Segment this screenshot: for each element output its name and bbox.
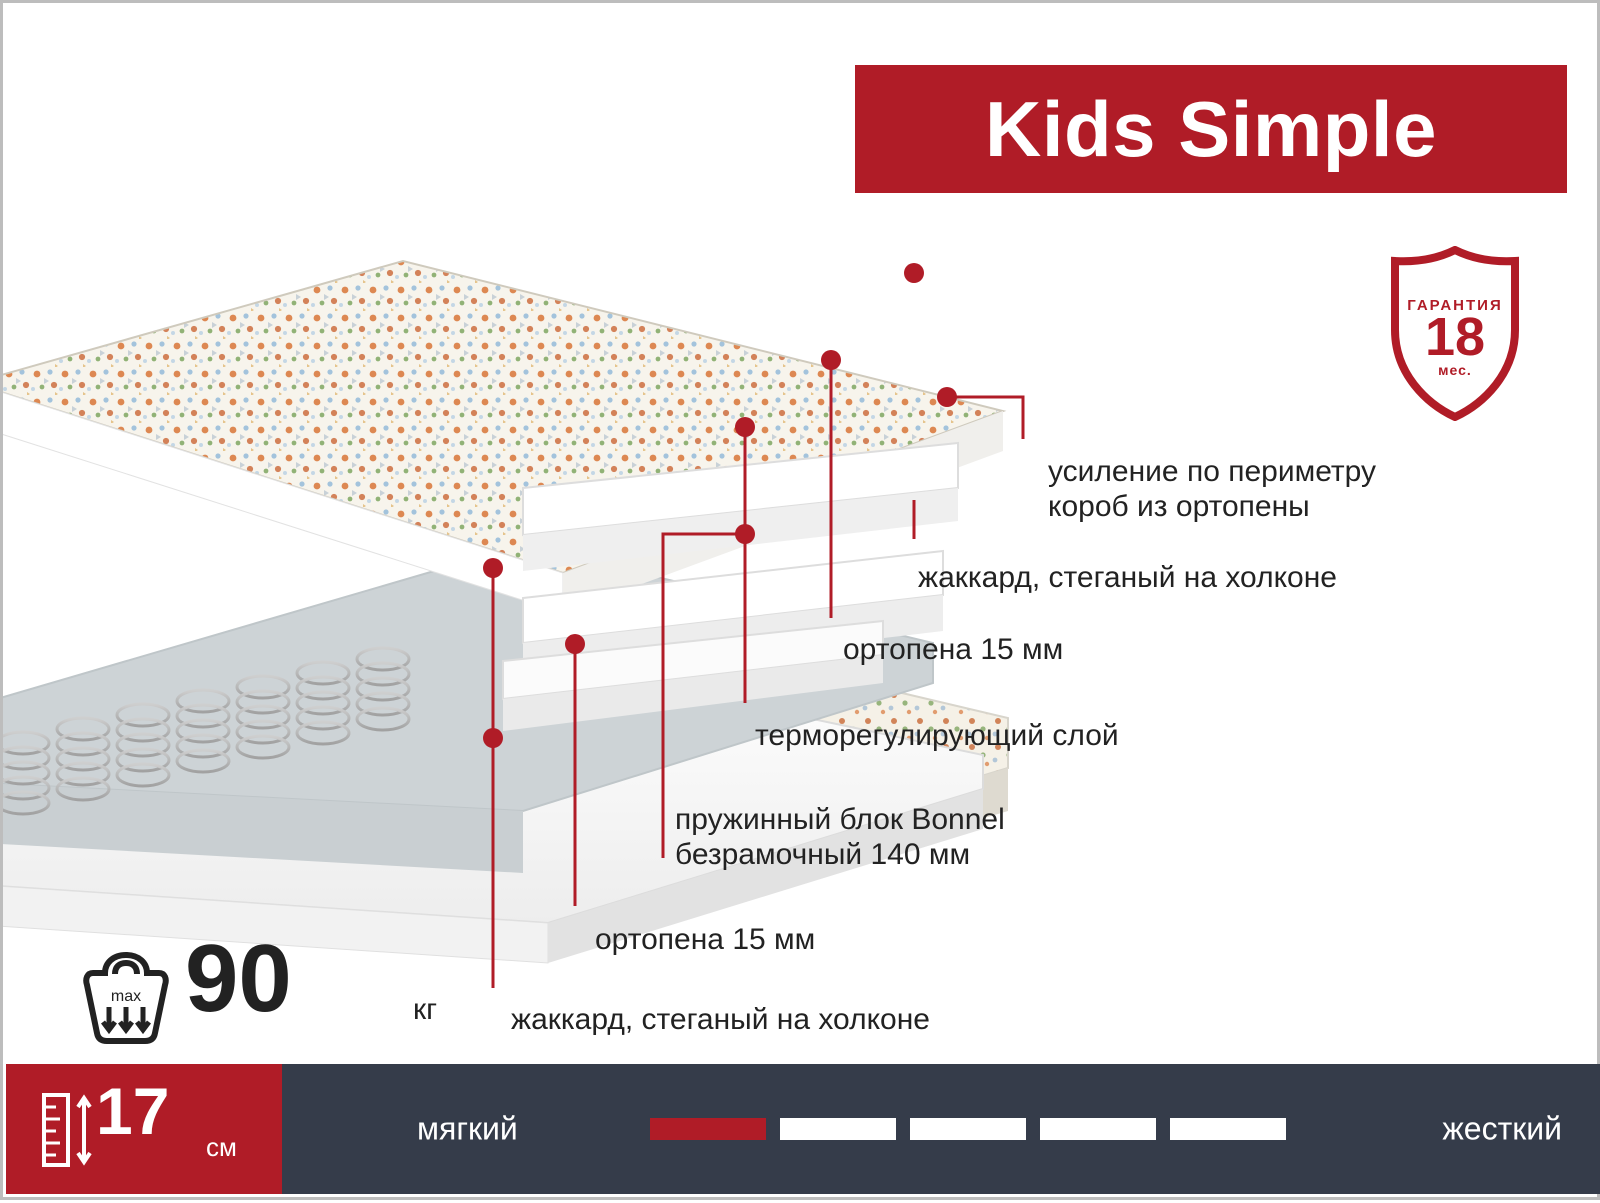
callout-spring-block: пружинный блок Bonnel безрамочный 140 мм [675, 803, 1295, 873]
callout-perimeter-line1: усиление по периметру [1048, 455, 1568, 490]
ruler-icon [42, 1092, 96, 1173]
callout-jacquard-top: жаккард, стеганый на холконе [918, 561, 1337, 596]
firmness-scale [650, 1118, 1286, 1140]
callout-spring-block-line2: безрамочный 140 мм [675, 838, 1295, 873]
callout-thermo-layer: терморегулирующий слой [755, 719, 1119, 754]
firmness-segment-2 [780, 1118, 896, 1140]
max-weight-block: max 90 кг [83, 943, 503, 1053]
height-block: 17 см [6, 1064, 282, 1194]
guarantee-value: 18 [1425, 312, 1485, 363]
callout-spring-block-line1: пружинный блок Bonnel [675, 803, 1295, 838]
guarantee-shield-badge: ГАРАНТИЯ 18 мес. [1387, 246, 1523, 421]
firmness-segment-1 [650, 1118, 766, 1140]
firmness-hard-label: жесткий [1442, 1111, 1562, 1148]
firmness-soft-label: мягкий [417, 1111, 518, 1148]
max-weight-unit: кг [413, 993, 437, 1027]
poster-frame: усиление по периметру короб из ортопены … [0, 0, 1600, 1200]
bottom-bar: 17 см мягкий жесткий [6, 1064, 1600, 1194]
svg-text:max: max [111, 988, 141, 1005]
callout-perimeter-line2: короб из ортопены [1048, 490, 1568, 525]
callout-jacquard-bottom: жаккард, стеганый на холконе [511, 1003, 930, 1038]
callout-ortofoam-top: ортопена 15 мм [843, 633, 1063, 668]
firmness-segment-3 [910, 1118, 1026, 1140]
max-weight-value: 90 [185, 931, 292, 1027]
guarantee-unit: мес. [1438, 362, 1472, 378]
height-unit: см [206, 1132, 237, 1163]
weight-icon: max [83, 949, 169, 1050]
height-value: 17 [96, 1078, 169, 1144]
product-title: Kids Simple [985, 90, 1437, 168]
firmness-block: мягкий жесткий [282, 1064, 1600, 1194]
callout-ortofoam-bottom: ортопена 15 мм [595, 923, 815, 958]
firmness-segment-4 [1040, 1118, 1156, 1140]
product-title-banner: Kids Simple [855, 65, 1567, 193]
callout-perimeter: усиление по периметру короб из ортопены [1048, 455, 1568, 525]
firmness-segment-5 [1170, 1118, 1286, 1140]
